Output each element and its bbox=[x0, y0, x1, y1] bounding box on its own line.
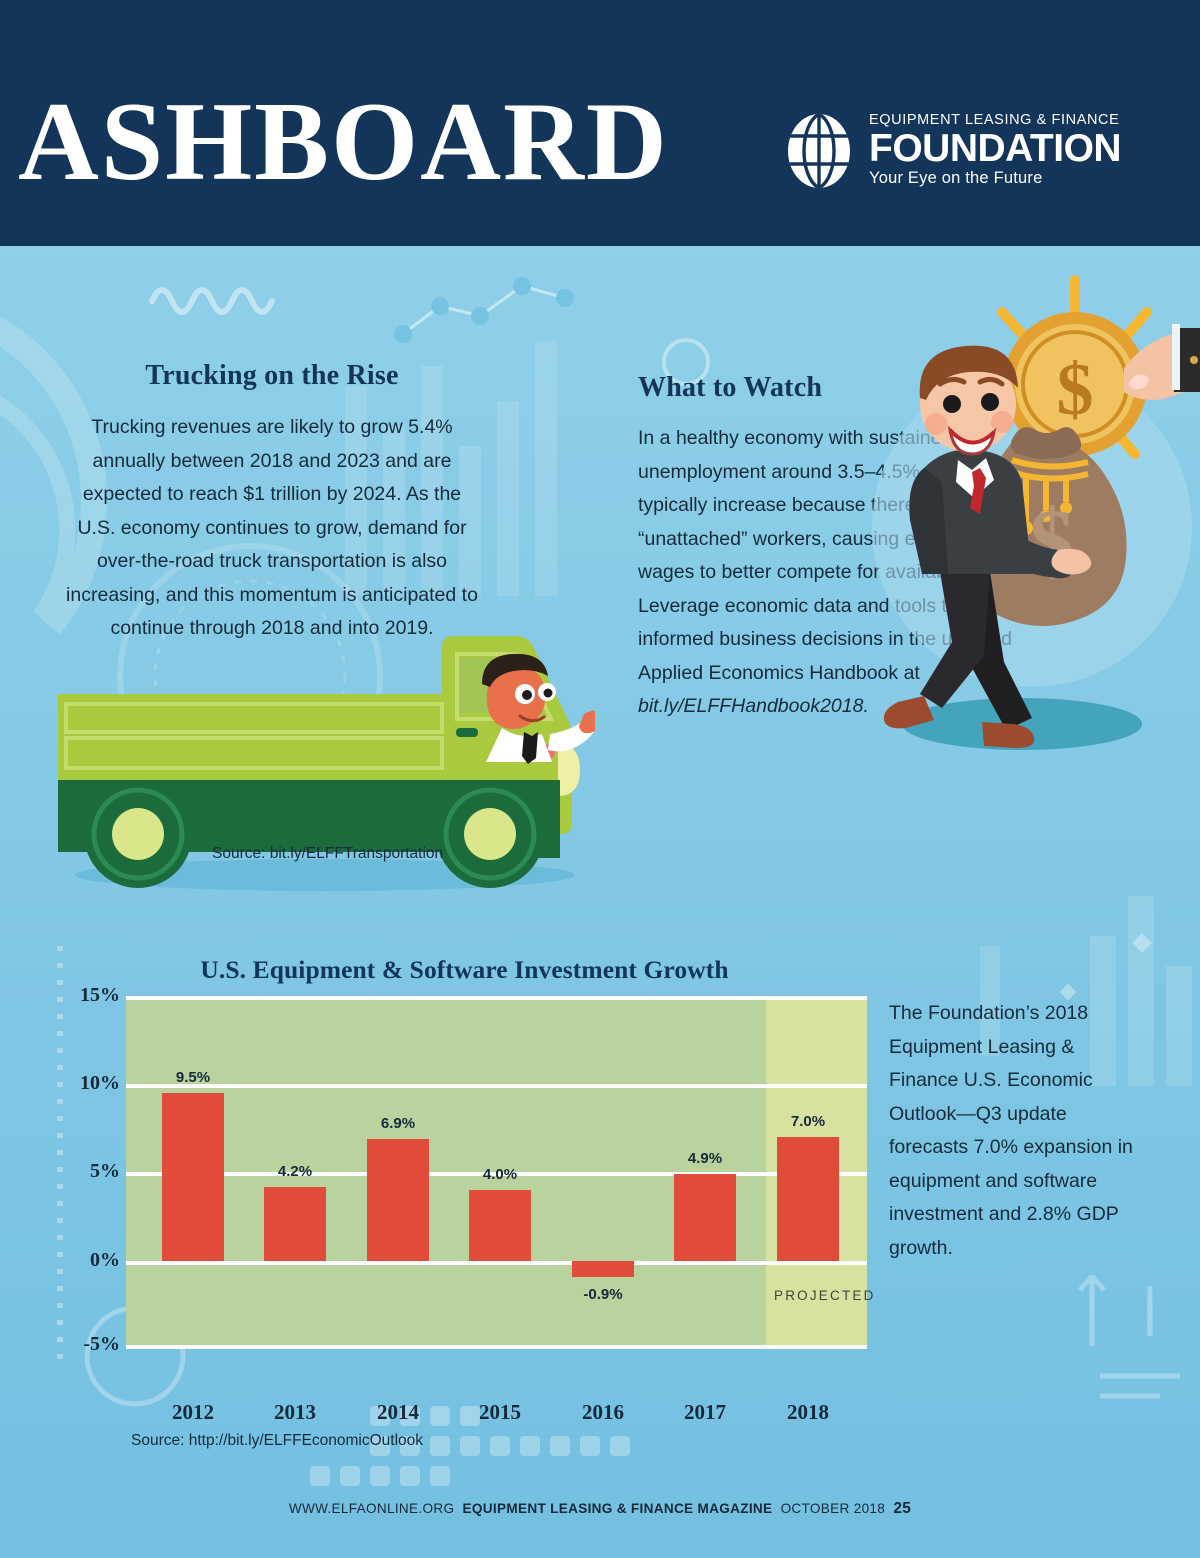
bar-2016[interactable] bbox=[572, 1261, 634, 1277]
x-tick-label-2014: 2014 bbox=[343, 1400, 453, 1425]
gridline-15 bbox=[126, 996, 867, 1000]
bar-2013[interactable] bbox=[264, 1187, 326, 1261]
footer-publication: EQUIPMENT LEASING & FINANCE MAGAZINE bbox=[463, 1501, 773, 1516]
footer-page-number: 25 bbox=[893, 1500, 911, 1517]
bar-2017[interactable] bbox=[674, 1174, 736, 1261]
chart-side-copy: The Foundation’s 2018 Equipment Leasing … bbox=[889, 997, 1137, 1265]
y-tick-label-15: 15% bbox=[62, 984, 120, 1007]
trucking-source: Source: bit.ly/ELFFTransportation bbox=[212, 845, 443, 863]
x-tick-label-2015: 2015 bbox=[445, 1400, 555, 1425]
x-tick-label-2012: 2012 bbox=[138, 1400, 248, 1425]
x-tick-label-2017: 2017 bbox=[650, 1400, 760, 1425]
logo-tagline-bottom: Your Eye on the Future bbox=[869, 169, 1121, 189]
bar-2014[interactable] bbox=[367, 1139, 429, 1261]
page-title: ASHBOARD bbox=[18, 86, 669, 198]
gridline-neg5 bbox=[126, 1345, 867, 1349]
globe-grid-icon bbox=[783, 113, 855, 189]
investment-growth-chart: U.S. Equipment & Software Investment Gro… bbox=[62, 955, 867, 1415]
y-tick-label-0: 0% bbox=[62, 1249, 120, 1272]
page-footer: WWW.ELFAONLINE.ORG EQUIPMENT LEASING & F… bbox=[0, 1500, 1200, 1518]
bar-value-2013: 4.2% bbox=[250, 1163, 340, 1180]
bar-2015[interactable] bbox=[469, 1190, 531, 1261]
footer-website[interactable]: WWW.ELFAONLINE.ORG bbox=[289, 1501, 455, 1516]
logo-wordmark: FOUNDATION bbox=[869, 129, 1121, 168]
chart-source: Source: http://bit.ly/ELFFEconomicOutloo… bbox=[131, 1432, 423, 1450]
handbook-link[interactable]: bit.ly/ELFFHandbook2018. bbox=[638, 695, 869, 717]
footer-issue: OCTOBER 2018 bbox=[781, 1501, 886, 1516]
bar-value-2012: 9.5% bbox=[148, 1069, 238, 1086]
chart-plot-area: 15% 10% 5% 0% -5% 9.5% 4.2% 6.9% 4.0% -0… bbox=[126, 996, 867, 1349]
y-tick-label-neg5: -5% bbox=[62, 1333, 120, 1356]
projected-label: PROJECTED bbox=[774, 1288, 876, 1303]
gridline-0 bbox=[126, 1261, 867, 1265]
chart-title: U.S. Equipment & Software Investment Gro… bbox=[62, 955, 867, 985]
y-tick-label-10: 10% bbox=[62, 1072, 120, 1095]
bar-value-2017: 4.9% bbox=[660, 1150, 750, 1167]
y-tick-label-5: 5% bbox=[62, 1160, 120, 1183]
x-tick-label-2013: 2013 bbox=[240, 1400, 350, 1425]
x-tick-label-2018: 2018 bbox=[753, 1400, 863, 1425]
bar-value-2015: 4.0% bbox=[455, 1166, 545, 1183]
trucking-body: Trucking revenues are likely to grow 5.4… bbox=[62, 411, 482, 646]
masthead: ASHBOARD EQUIPMENT LEASING & FINANCE FOU… bbox=[0, 0, 1200, 246]
bar-value-2014: 6.9% bbox=[353, 1115, 443, 1132]
foundation-logo: EQUIPMENT LEASING & FINANCE FOUNDATION Y… bbox=[783, 113, 1121, 189]
money-bag-illustration: $ $ bbox=[862, 272, 1200, 772]
trucking-heading: Trucking on the Rise bbox=[62, 360, 482, 392]
bar-2012[interactable] bbox=[162, 1093, 224, 1261]
svg-text:$: $ bbox=[1057, 349, 1094, 431]
bar-2018[interactable] bbox=[777, 1137, 839, 1261]
x-tick-label-2016: 2016 bbox=[548, 1400, 658, 1425]
trucking-section: Trucking on the Rise Trucking revenues a… bbox=[62, 360, 482, 646]
bar-value-2016: -0.9% bbox=[558, 1286, 648, 1303]
bar-value-2018: 7.0% bbox=[763, 1113, 853, 1130]
